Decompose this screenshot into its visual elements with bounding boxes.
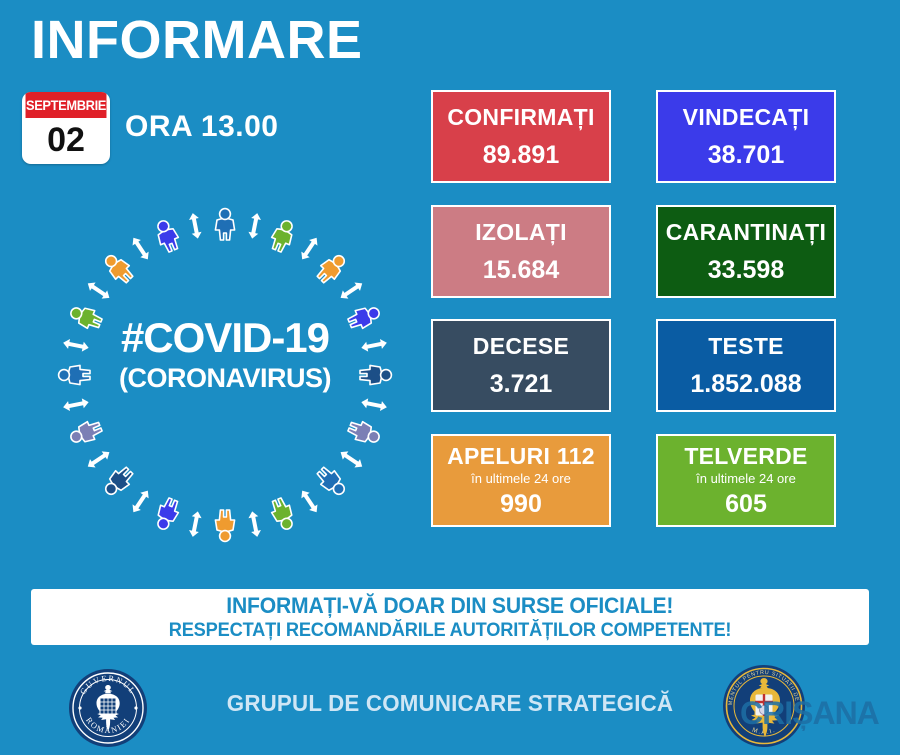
- person-figure: [346, 418, 382, 448]
- stat-value-telverde: 605: [725, 489, 767, 519]
- stat-box-confirmati: CONFIRMAȚI 89.891: [431, 90, 611, 183]
- double-arrow-icon: [188, 510, 203, 537]
- stat-box-apeluri: APELURI 112 în ultimele 24 ore 990: [431, 434, 611, 527]
- calendar-day: 02: [22, 118, 110, 164]
- stat-value-apeluri: 990: [500, 489, 542, 519]
- report-hour: ORA 13.00: [125, 110, 278, 144]
- double-arrow-icon: [360, 397, 387, 412]
- stat-label-izolati: IZOLAȚI: [475, 219, 567, 246]
- banner-line-1: INFORMAȚI-VĂ DOAR DIN SURSE OFICIALE!: [227, 593, 674, 619]
- calendar-icon: SEPTEMBRIE 02: [22, 92, 110, 164]
- stat-value-izolati: 15.684: [483, 255, 559, 285]
- double-arrow-icon: [247, 510, 262, 537]
- double-arrow-icon: [62, 397, 89, 412]
- person-figure: [68, 302, 104, 332]
- person-figure: [152, 218, 182, 254]
- double-arrow-icon: [129, 235, 152, 262]
- page-title: INFORMARE: [31, 8, 362, 72]
- stat-box-telverde: TELVERDE în ultimele 24 ore 605: [656, 434, 836, 527]
- double-arrow-icon: [360, 338, 387, 353]
- double-arrow-icon: [129, 488, 152, 515]
- person-figure: [215, 510, 234, 541]
- person-figure: [268, 218, 298, 254]
- stat-box-izolati: IZOLAȚI 15.684: [431, 205, 611, 298]
- double-arrow-icon: [247, 212, 262, 239]
- person-figure: [346, 302, 382, 332]
- stat-value-teste: 1.852.088: [690, 369, 801, 399]
- infographic-poster: INFORMARE SEPTEMBRIE 02 ORA 13.00 #COVID…: [0, 0, 900, 755]
- person-figure: [59, 365, 90, 384]
- stat-box-vindecati: VINDECAȚI 38.701: [656, 90, 836, 183]
- double-arrow-icon: [338, 279, 365, 302]
- stat-box-carantinati: CARANTINAȚI 33.598: [656, 205, 836, 298]
- double-arrow-icon: [188, 212, 203, 239]
- person-figure: [101, 464, 137, 500]
- calendar-month: SEPTEMBRIE: [26, 92, 107, 118]
- stat-box-teste: TESTE 1.852.088: [656, 319, 836, 412]
- dsu-emblem-icon: DEPARTAMENTUL PENTRU SITUATII DE URGENTA…: [722, 664, 806, 748]
- stat-label-decese: DECESE: [473, 333, 569, 360]
- stat-value-vindecati: 38.701: [708, 140, 784, 170]
- stat-label-carantinati: CARANTINAȚI: [666, 219, 826, 246]
- stat-sub-apeluri: în ultimele 24 ore: [471, 470, 571, 487]
- stat-value-confirmati: 89.891: [483, 140, 559, 170]
- people-circle-icon: #COVID-19 (CORONAVIRUS): [30, 190, 420, 560]
- stat-label-telverde: TELVERDE: [684, 443, 807, 470]
- double-arrow-icon: [298, 488, 321, 515]
- banner-line-2: RESPECTAȚI RECOMANDĂRILE AUTORITĂȚILOR C…: [169, 619, 732, 642]
- stat-value-decese: 3.721: [490, 369, 553, 399]
- stat-value-carantinati: 33.598: [708, 255, 784, 285]
- stat-label-apeluri: APELURI 112: [447, 443, 595, 470]
- person-figure: [360, 365, 391, 384]
- double-arrow-icon: [85, 279, 112, 302]
- double-arrow-icon: [338, 448, 365, 471]
- stat-label-vindecati: VINDECAȚI: [683, 104, 810, 131]
- stat-sub-telverde: în ultimele 24 ore: [696, 470, 796, 487]
- double-arrow-icon: [85, 448, 112, 471]
- person-figure: [152, 496, 182, 532]
- person-figure: [268, 496, 298, 532]
- person-figure: [68, 418, 104, 448]
- double-arrow-icon: [298, 235, 321, 262]
- person-figure: [314, 251, 350, 287]
- double-arrow-icon: [62, 338, 89, 353]
- footer-organization: GRUPUL DE COMUNICARE STRATEGICĂ: [208, 690, 693, 717]
- stat-box-decese: DECESE 3.721: [431, 319, 611, 412]
- person-figure: [314, 464, 350, 500]
- stat-label-confirmati: CONFIRMAȚI: [447, 104, 594, 131]
- official-sources-banner: INFORMAȚI-VĂ DOAR DIN SURSE OFICIALE! RE…: [31, 589, 869, 645]
- person-figure: [101, 251, 137, 287]
- person-figure: [215, 209, 234, 240]
- stat-label-teste: TESTE: [708, 333, 784, 360]
- government-seal-icon: GUVERNUL ROMÂNIEI: [68, 668, 148, 748]
